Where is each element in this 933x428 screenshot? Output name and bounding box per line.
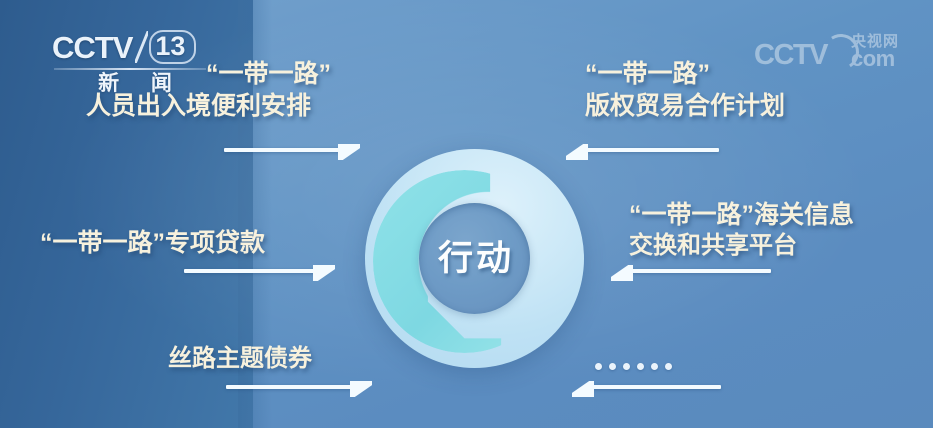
- item-special-loan-line1: “一带一路”专项贷款: [40, 227, 265, 259]
- center-circle-graphic: 行动: [365, 149, 584, 368]
- watermark-swoosh-icon: [823, 39, 853, 70]
- ellipsis-dot: [637, 363, 644, 370]
- item-copyright-trade-line2: 版权贸易合作计划: [585, 90, 785, 122]
- item-exit-entry[interactable]: “一带一路” 人员出入境便利安排: [86, 58, 331, 122]
- item-more-ellipsis[interactable]: [595, 363, 672, 370]
- item-exit-entry-line1: “一带一路”: [86, 58, 331, 90]
- ellipsis-dot: [609, 363, 616, 370]
- ellipsis-dot: [651, 363, 658, 370]
- item-silk-road-bond-line1: 丝路主题债券: [168, 344, 312, 375]
- item-special-loan[interactable]: “一带一路”专项贷款: [40, 227, 265, 259]
- center-label: 行动: [435, 241, 514, 276]
- item-copyright-trade-line1: “一带一路”: [585, 58, 785, 90]
- item-customs-platform-line1: “一带一路”海关信息: [629, 199, 854, 231]
- item-customs-platform[interactable]: “一带一路”海关信息 交换和共享平台: [629, 199, 854, 262]
- item-exit-entry-line2: 人员出入境便利安排: [86, 90, 331, 122]
- connector-more: [592, 385, 721, 389]
- ellipsis-dot: [665, 363, 672, 370]
- connector-silk-road-bond: [226, 385, 362, 389]
- ellipsis-dot: [595, 363, 602, 370]
- infographic-screen: CCTV 13 新 闻 CCTV 央视网 com 行动 “一带一路” 人员出入境…: [0, 0, 933, 428]
- connector-special-loan: [184, 269, 327, 273]
- connector-exit-entry: [224, 148, 352, 152]
- connector-customs-platform: [631, 269, 771, 273]
- item-copyright-trade[interactable]: “一带一路” 版权贸易合作计划: [585, 58, 785, 122]
- circle-inner-core: 行动: [419, 203, 530, 314]
- item-customs-platform-line2: 交换和共享平台: [629, 231, 854, 262]
- item-silk-road-bond[interactable]: 丝路主题债券: [168, 344, 312, 375]
- ellipsis-dot: [623, 363, 630, 370]
- connector-copyright-trade: [586, 148, 719, 152]
